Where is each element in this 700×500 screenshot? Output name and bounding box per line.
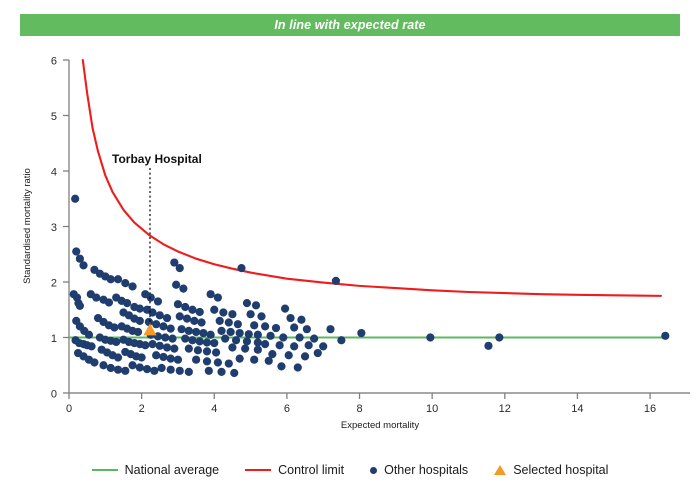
scatter-point[interactable] (156, 311, 164, 319)
scatter-point[interactable] (305, 341, 313, 349)
scatter-point[interactable] (279, 333, 287, 341)
scatter-point[interactable] (285, 351, 293, 359)
x-axis-ticks: 0246810121416 (66, 393, 656, 415)
scatter-point[interactable] (176, 367, 184, 375)
scatter-point[interactable] (332, 277, 340, 285)
scatter-point[interactable] (276, 341, 284, 349)
scatter-point[interactable] (134, 328, 142, 336)
x-tick-label: 0 (66, 403, 72, 415)
scatter-point[interactable] (234, 320, 242, 328)
scatter-point[interactable] (217, 368, 225, 376)
scatter-point[interactable] (310, 335, 318, 343)
scatter-point[interactable] (484, 342, 492, 350)
scatter-point[interactable] (143, 365, 151, 373)
national-average-swatch-icon (92, 469, 118, 471)
selected-hospital-swatch-icon (494, 465, 506, 475)
scatter-point[interactable] (357, 329, 365, 337)
scatter-point[interactable] (294, 363, 302, 371)
control-limit-line (83, 60, 661, 296)
scatter-point[interactable] (167, 366, 175, 374)
scatter-point[interactable] (214, 293, 222, 301)
x-axis-title: Expected mortality (341, 420, 419, 431)
scatter-point[interactable] (128, 361, 136, 369)
scatter-point[interactable] (254, 331, 262, 339)
scatter-point[interactable] (301, 352, 309, 360)
scatter-point[interactable] (254, 346, 262, 354)
scatter-point[interactable] (105, 298, 113, 306)
scatter-point[interactable] (227, 328, 235, 336)
scatter-point[interactable] (203, 347, 211, 355)
scatter-point[interactable] (183, 315, 191, 323)
scatter-point[interactable] (245, 330, 253, 338)
scatter-point[interactable] (214, 358, 222, 366)
scatter-point[interactable] (217, 327, 225, 335)
scatter-point[interactable] (99, 361, 107, 369)
scatter-point[interactable] (250, 321, 258, 329)
scatter-point[interactable] (266, 332, 274, 340)
scatter-point[interactable] (92, 293, 100, 301)
scatter-point[interactable] (228, 343, 236, 351)
scatter-point[interactable] (205, 367, 213, 375)
x-tick-label: 6 (284, 403, 290, 415)
scatter-point[interactable] (228, 310, 236, 318)
scatter-point[interactable] (174, 356, 182, 364)
scatter-point[interactable] (236, 354, 244, 362)
x-tick-label: 10 (426, 403, 438, 415)
y-axis-title: Standardised mortality ratio (22, 168, 33, 284)
scatter-point[interactable] (272, 324, 280, 332)
scatter-point[interactable] (158, 364, 166, 372)
scatter-point[interactable] (192, 356, 200, 364)
scatter-point[interactable] (254, 338, 262, 346)
x-tick-label: 12 (499, 403, 511, 415)
scatter-point[interactable] (243, 337, 251, 345)
scatter-point[interactable] (261, 322, 269, 330)
scatter-point[interactable] (250, 356, 258, 364)
legend-label-control-limit: Control limit (278, 464, 344, 477)
scatter-point[interactable] (114, 353, 122, 361)
scatter-point[interactable] (196, 308, 204, 316)
scatter-point[interactable] (281, 305, 289, 313)
scatter-point[interactable] (167, 354, 175, 362)
legend-item-national-average[interactable]: National average (92, 464, 220, 477)
scatter-point[interactable] (110, 323, 118, 331)
scatter-point[interactable] (136, 317, 144, 325)
scatter-point[interactable] (123, 299, 131, 307)
scatter-point[interactable] (190, 317, 198, 325)
legend-item-other-hospitals[interactable]: Other hospitals (370, 464, 468, 477)
funnel-plot: 0123456 0246810121416 Standardised morta… (0, 0, 700, 455)
scatter-point[interactable] (426, 333, 434, 341)
scatter-point[interactable] (154, 297, 162, 305)
scatter-point[interactable] (230, 369, 238, 377)
other-hospitals-swatch-icon (370, 467, 377, 474)
scatter-point[interactable] (145, 318, 153, 326)
scatter-point[interactable] (71, 195, 79, 203)
scatter-point[interactable] (290, 342, 298, 350)
scatter-point[interactable] (174, 300, 182, 308)
scatter-point[interactable] (181, 335, 189, 343)
scatter-point[interactable] (136, 305, 144, 313)
scatter-point[interactable] (163, 314, 171, 322)
scatter-point[interactable] (185, 345, 193, 353)
scatter-point[interactable] (207, 290, 215, 298)
y-tick-label: 6 (51, 56, 57, 68)
scatter-point[interactable] (138, 353, 146, 361)
scatter-point[interactable] (170, 345, 178, 353)
scatter-point[interactable] (219, 308, 227, 316)
scatter-point[interactable] (257, 312, 265, 320)
scatter-point[interactable] (107, 364, 115, 372)
scatter-point[interactable] (107, 275, 115, 283)
scatter-point[interactable] (221, 335, 229, 343)
x-tick-label: 8 (356, 403, 362, 415)
scatter-point[interactable] (212, 348, 220, 356)
x-tick-label: 14 (571, 403, 583, 415)
annotation-label: Torbay Hospital (112, 152, 202, 166)
scatter-point[interactable] (314, 349, 322, 357)
scatter-point[interactable] (297, 316, 305, 324)
scatter-point[interactable] (277, 362, 285, 370)
scatter-point[interactable] (147, 293, 155, 301)
scatter-point[interactable] (163, 343, 171, 351)
scatter-point[interactable] (188, 306, 196, 314)
scatter-point[interactable] (159, 353, 167, 361)
scatter-point[interactable] (203, 338, 211, 346)
scatter-point[interactable] (185, 327, 193, 335)
legend-item-control-limit[interactable]: Control limit (245, 464, 344, 477)
y-tick-label: 5 (51, 111, 57, 123)
scatter-point[interactable] (319, 342, 327, 350)
y-tick-label: 3 (51, 222, 57, 234)
y-tick-label: 2 (51, 278, 57, 290)
x-tick-label: 4 (211, 403, 217, 415)
scatter-point[interactable] (72, 247, 80, 255)
scatter-point[interactable] (114, 275, 122, 283)
scatter-point[interactable] (156, 342, 164, 350)
legend-label-national-average: National average (125, 464, 220, 477)
chart-legend: National average Control limit Other hos… (0, 455, 700, 485)
scatter-point[interactable] (207, 331, 215, 339)
scatter-point[interactable] (161, 333, 169, 341)
scatter-point[interactable] (210, 306, 218, 314)
scatter-point[interactable] (237, 264, 245, 272)
scatter-point[interactable] (179, 285, 187, 293)
x-tick-label: 16 (644, 403, 656, 415)
y-tick-label: 1 (51, 333, 57, 345)
scatter-point[interactable] (185, 368, 193, 376)
scatter-point[interactable] (167, 325, 175, 333)
scatter-point[interactable] (241, 345, 249, 353)
scatter-point[interactable] (303, 325, 311, 333)
scatter-point[interactable] (246, 310, 254, 318)
scatter-point[interactable] (243, 299, 251, 307)
scatter-point[interactable] (121, 367, 129, 375)
y-axis-ticks: 0123456 (51, 56, 69, 401)
scatter-point[interactable] (76, 302, 84, 310)
scatter-point[interactable] (176, 264, 184, 272)
scatter-point[interactable] (296, 333, 304, 341)
scatter-point[interactable] (661, 332, 669, 340)
plot-axes: 0123456 0246810121416 (51, 56, 690, 416)
scatter-point[interactable] (210, 339, 218, 347)
scatter-point[interactable] (326, 325, 334, 333)
scatter-point[interactable] (150, 367, 158, 375)
scatter-point[interactable] (495, 333, 503, 341)
scatter-point[interactable] (196, 337, 204, 345)
scatter-point[interactable] (236, 329, 244, 337)
scatter-point[interactable] (216, 317, 224, 325)
scatter-point[interactable] (225, 318, 233, 326)
scatter-point[interactable] (192, 328, 200, 336)
scatter-point[interactable] (261, 340, 269, 348)
scatter-point[interactable] (159, 322, 167, 330)
scatter-point[interactable] (194, 346, 202, 354)
scatter-point[interactable] (290, 323, 298, 331)
scatter-point[interactable] (114, 366, 122, 374)
scatter-point[interactable] (225, 359, 233, 367)
scatter-point[interactable] (337, 336, 345, 344)
scatter-point[interactable] (121, 279, 129, 287)
scatter-point[interactable] (85, 331, 93, 339)
scatter-point[interactable] (79, 261, 87, 269)
y-tick-label: 0 (51, 389, 57, 401)
scatter-point[interactable] (90, 358, 98, 366)
scatter-point[interactable] (152, 351, 160, 359)
scatter-point[interactable] (203, 357, 211, 365)
control-limit-swatch-icon (245, 469, 271, 471)
scatter-point[interactable] (112, 338, 120, 346)
y-tick-label: 4 (51, 167, 57, 179)
scatter-point[interactable] (128, 282, 136, 290)
scatter-point[interactable] (141, 341, 149, 349)
scatter-point[interactable] (168, 335, 176, 343)
scatter-point[interactable] (177, 325, 185, 333)
scatter-point[interactable] (152, 320, 160, 328)
chart-root: In line with expected rate 0123456 02468… (0, 0, 700, 500)
legend-label-selected-hospital: Selected hospital (513, 464, 608, 477)
scatter-point[interactable] (268, 350, 276, 358)
scatter-point[interactable] (286, 314, 294, 322)
legend-label-other-hospitals: Other hospitals (384, 464, 468, 477)
scatter-point[interactable] (148, 340, 156, 348)
scatter-point[interactable] (172, 281, 180, 289)
scatter-point[interactable] (87, 342, 95, 350)
scatter-point[interactable] (232, 336, 240, 344)
scatter-point[interactable] (181, 303, 189, 311)
scatter-point[interactable] (199, 329, 207, 337)
scatter-point[interactable] (176, 312, 184, 320)
scatter-point[interactable] (188, 336, 196, 344)
scatter-point[interactable] (136, 363, 144, 371)
scatter-point[interactable] (252, 301, 260, 309)
scatter-point[interactable] (197, 318, 205, 326)
x-tick-label: 2 (139, 403, 145, 415)
legend-item-selected-hospital[interactable]: Selected hospital (494, 464, 608, 477)
